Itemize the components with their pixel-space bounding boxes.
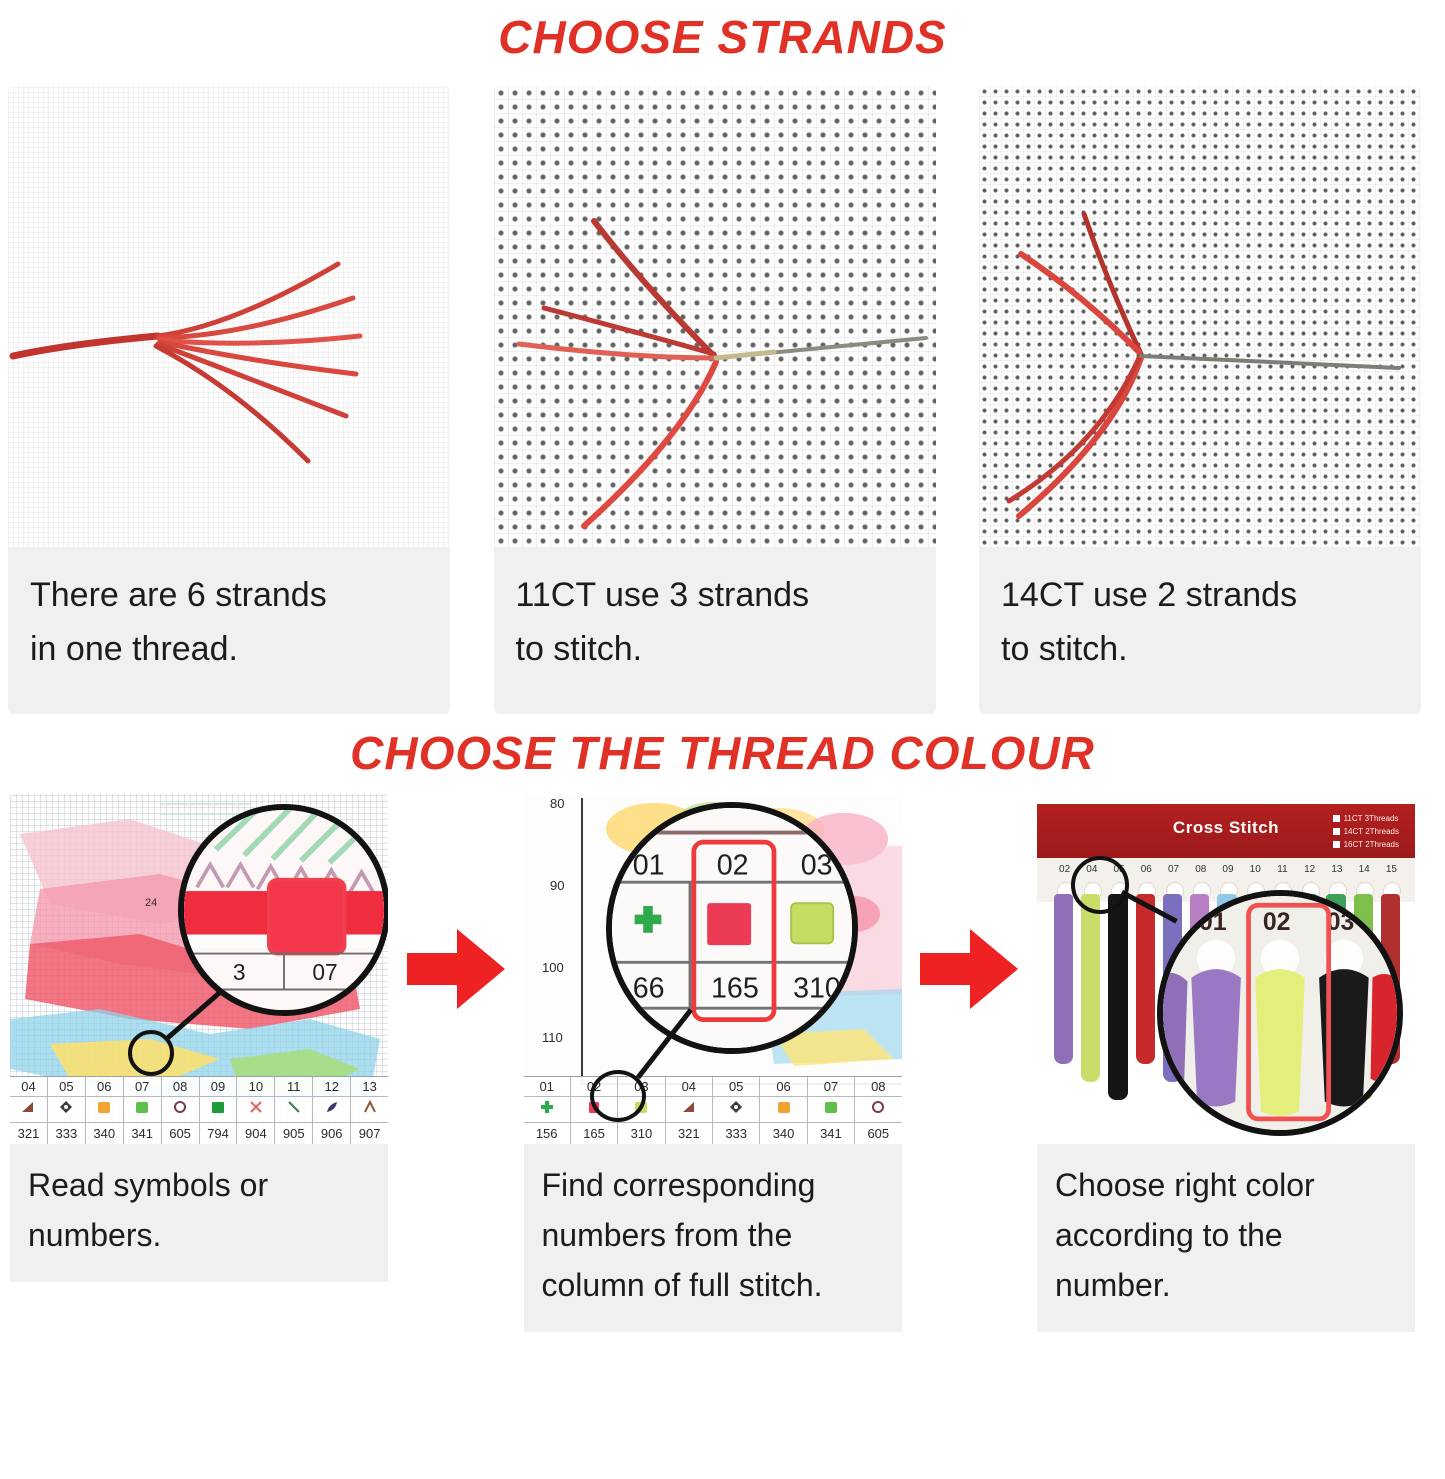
bobbin-num-02: 02	[1263, 909, 1291, 936]
magnifier-lens-symbols: 3 07	[178, 804, 388, 1016]
magnified-bobbins: 01 02 03	[1157, 890, 1403, 1136]
page-title-choose-strands: CHOOSE STRANDS	[0, 0, 1445, 68]
thread-skein-05	[1108, 894, 1127, 1100]
legend-dmc-321: 321	[666, 1123, 713, 1144]
legend-dmc-905: 905	[275, 1123, 313, 1144]
caption-line-2: in one thread.	[30, 622, 428, 676]
legend-column-08: 08	[855, 1077, 901, 1097]
legend-column-04: 04	[10, 1077, 48, 1097]
lens-number-left: 3	[233, 959, 246, 985]
axis-label-80: 80	[550, 796, 564, 811]
bobbin-thread-01	[1191, 969, 1241, 1106]
caption-line-1: Choose right color	[1055, 1160, 1397, 1210]
caption-line-2: numbers from the	[542, 1210, 884, 1260]
right-arrow-icon-2	[916, 923, 1022, 1015]
legend-column-header-row: 0102030405060708	[524, 1077, 902, 1097]
legend-dmc-341: 341	[124, 1123, 162, 1144]
legend-symbol-open-circle	[855, 1097, 901, 1123]
lens-num-310: 310	[793, 973, 841, 1005]
legend-dmc-605: 605	[855, 1123, 901, 1144]
legend-symbol-red-cross	[237, 1097, 275, 1123]
thread-card-banner: Cross Stitch 11CT 3Threads14CT 2Threads1…	[1037, 804, 1415, 858]
legend-column-12: 12	[313, 1077, 351, 1097]
lens-content-3: 01 02 03	[1157, 890, 1403, 1136]
legend-dmc-340: 340	[86, 1123, 124, 1144]
caption-line-2: according to the	[1055, 1210, 1397, 1260]
magnifier-target-circle-2	[590, 1070, 646, 1122]
caption-line-1: Read symbols or	[28, 1160, 370, 1210]
colour-steps-row: 24 02 04050607080910111213 3213333403416…	[0, 784, 1425, 1332]
lens-number-right: 07	[312, 959, 337, 985]
legend-symbol-dark-green-square	[200, 1097, 238, 1123]
thread-card-legend-item-1: 14CT 2Threads	[1333, 825, 1399, 838]
magnified-pattern: 3 07	[178, 804, 388, 1016]
legend-dmc-321: 321	[10, 1123, 48, 1144]
legend-column-10: 10	[237, 1077, 275, 1097]
lens-content-2: 01 02 03 66 165 310	[606, 802, 858, 1054]
symbol-legend-table: 04050607080910111213 3213333403416057949…	[10, 1076, 388, 1144]
right-arrow-icon	[403, 923, 509, 1015]
thread-card-column-08: 08	[1187, 864, 1214, 875]
bobbin-thread-02	[1255, 969, 1305, 1116]
two-strands-needle-illustration	[979, 86, 1421, 548]
legend-dmc-333: 333	[713, 1123, 760, 1144]
legend-column-05: 05	[713, 1077, 760, 1097]
three-strands-needle-illustration	[494, 86, 936, 548]
colour-step-choose-color: Cross Stitch 11CT 3Threads14CT 2Threads1…	[1037, 794, 1415, 1332]
legend-column-05: 05	[48, 1077, 86, 1097]
thread-card-legend-label: 16CT 2Threads	[1344, 838, 1399, 851]
thread-card-column-10: 10	[1242, 864, 1269, 875]
lens-col-01: 01	[632, 850, 664, 882]
legend-symbol-green-square	[808, 1097, 855, 1123]
legend-symbol-diagonal-line	[275, 1097, 313, 1123]
legend-dmc-333: 333	[48, 1123, 86, 1144]
caption-read-symbols: Read symbols or numbers.	[10, 1144, 388, 1282]
strand-card-14ct: 14CT use 2 strands to stitch.	[979, 86, 1421, 714]
symbol-legend-table-2: 0102030405060708 15616531032133334034160…	[524, 1076, 902, 1144]
legend-column-09: 09	[200, 1077, 238, 1097]
legend-column-06: 06	[760, 1077, 807, 1097]
thread-skein-06	[1136, 894, 1155, 1064]
arrow-cell-2	[911, 794, 1027, 1144]
caption-line-1: 11CT use 3 strands	[516, 568, 914, 622]
legend-dmc-906: 906	[313, 1123, 351, 1144]
lens-content: 3 07	[178, 804, 388, 1016]
legend-dmc-341: 341	[808, 1123, 855, 1144]
thread-card-legend: 11CT 3Threads14CT 2Threads16CT 2Threads	[1333, 812, 1399, 851]
legend-symbol-orange-square	[760, 1097, 807, 1123]
caption-11ct: 11CT use 3 strands to stitch.	[494, 548, 936, 714]
lens-col-02: 02	[716, 850, 748, 882]
legend-column-11: 11	[275, 1077, 313, 1097]
legend-dmc-605: 605	[162, 1123, 200, 1144]
caption-choose-color: Choose right color according to the numb…	[1037, 1144, 1415, 1332]
legend-symbol-triangle	[10, 1097, 48, 1123]
legend-dmc-904: 904	[237, 1123, 275, 1144]
legend-dmc-156: 156	[524, 1123, 571, 1144]
axis-label-100: 100	[542, 960, 564, 975]
checkbox-icon	[1333, 841, 1340, 848]
legend-symbol-triangle	[666, 1097, 713, 1123]
strands-card-row: There are 6 strands in one thread. 11CT …	[0, 68, 1429, 714]
magnified-legend-bg: 01 02 03 66 165 310	[606, 802, 858, 1054]
thread-card-column-15: 15	[1378, 864, 1405, 875]
colour-step-find-numbers: 80 90 100 110 0102030405060708 156165310	[524, 794, 902, 1332]
axis-label-110: 110	[542, 1030, 563, 1045]
legend-symbol-dot-diamond	[713, 1097, 760, 1123]
colour-step-read-symbols: 24 02 04050607080910111213 3213333403416…	[10, 794, 388, 1282]
thread-skein-04	[1081, 894, 1100, 1082]
caption-14ct: 14CT use 2 strands to stitch.	[979, 548, 1421, 714]
magnifier-target-circle-3	[1071, 856, 1129, 914]
caption-line-1: Find corresponding	[542, 1160, 884, 1210]
thread-card-legend-label: 14CT 2Threads	[1344, 825, 1399, 838]
lens-num-66: 66	[632, 973, 664, 1005]
legend-dmc-794: 794	[200, 1123, 238, 1144]
legend-symbol-leaf	[313, 1097, 351, 1123]
caption-line-1: 14CT use 2 strands	[1001, 568, 1399, 622]
lens-col-03: 03	[800, 850, 832, 882]
legend-column-13: 13	[351, 1077, 388, 1097]
caption-line-2: to stitch.	[1001, 622, 1399, 676]
thread-skein-02	[1054, 894, 1073, 1064]
thread-card-column-14: 14	[1351, 864, 1378, 875]
six-strands-illustration	[8, 86, 450, 548]
checkbox-icon	[1333, 815, 1340, 822]
thread-card-legend-item-0: 11CT 3Threads	[1333, 812, 1399, 825]
legend-symbol-dot-diamond	[48, 1097, 86, 1123]
lens-symbol-green-square	[791, 903, 833, 943]
legend-number-row: 156165310321333340341605	[524, 1123, 902, 1144]
magnifier-lens-threads: 01 02 03	[1157, 890, 1403, 1136]
thread-card-column-11: 11	[1269, 864, 1296, 875]
legend-column-06: 06	[86, 1077, 124, 1097]
photo-thread-card: Cross Stitch 11CT 3Threads14CT 2Threads1…	[1037, 794, 1415, 1144]
caption-line-3: number.	[1055, 1260, 1397, 1310]
caption-line-2: to stitch.	[516, 622, 914, 676]
legend-column-08: 08	[162, 1077, 200, 1097]
arrow-cell-1	[398, 794, 514, 1144]
caption-line-3: column of full stitch.	[542, 1260, 884, 1310]
caption-find-numbers: Find corresponding numbers from the colu…	[524, 1144, 902, 1332]
legend-symbol-green-cross	[524, 1097, 571, 1123]
bobbin-num-01: 01	[1199, 909, 1227, 936]
thread-card-column-07: 07	[1160, 864, 1187, 875]
photo-11ct	[494, 86, 936, 548]
legend-dmc-340: 340	[760, 1123, 807, 1144]
chart-number-24: 24	[145, 897, 157, 909]
checkbox-icon	[1333, 828, 1340, 835]
legend-symbol-orange-square	[86, 1097, 124, 1123]
legend-column-header-row: 04050607080910111213	[10, 1077, 388, 1097]
caption-line-2: numbers.	[28, 1210, 370, 1260]
photo-pattern-chart-numbers: 80 90 100 110 0102030405060708 156165310	[524, 794, 902, 1144]
thread-card-legend-item-2: 16CT 2Threads	[1333, 838, 1399, 851]
legend-column-07: 07	[808, 1077, 855, 1097]
lens-symbol-red-square	[707, 903, 751, 945]
thread-card-column-13: 13	[1323, 864, 1350, 875]
legend-dmc-165: 165	[571, 1123, 618, 1144]
caption-six-strands: There are 6 strands in one thread.	[8, 548, 450, 714]
photo-pattern-chart-symbols: 24 02 04050607080910111213 3213333403416…	[10, 794, 388, 1144]
magnifier-lens-numbers: 01 02 03 66 165 310	[606, 802, 858, 1054]
legend-column-01: 01	[524, 1077, 571, 1097]
photo-six-strands	[8, 86, 450, 548]
legend-dmc-310: 310	[618, 1123, 665, 1144]
legend-symbol-open-circle	[162, 1097, 200, 1123]
strand-card-11ct: 11CT use 3 strands to stitch.	[494, 86, 936, 714]
legend-symbol-row	[524, 1097, 902, 1123]
strand-card-six-strands: There are 6 strands in one thread.	[8, 86, 450, 714]
legend-number-row: 321333340341605794904905906907	[10, 1123, 388, 1144]
thread-card-column-09: 09	[1214, 864, 1241, 875]
legend-dmc-907: 907	[351, 1123, 388, 1144]
caption-line-1: There are 6 strands	[30, 568, 428, 622]
thread-card-column-06: 06	[1133, 864, 1160, 875]
legend-symbol-green-square	[124, 1097, 162, 1123]
photo-14ct	[979, 86, 1421, 548]
legend-symbol-caret	[351, 1097, 388, 1123]
thread-card-column-12: 12	[1296, 864, 1323, 875]
page-title-choose-thread-colour: CHOOSE THE THREAD COLOUR	[0, 714, 1445, 784]
thread-card-legend-label: 11CT 3Threads	[1344, 812, 1399, 825]
lens-num-165: 165	[711, 973, 759, 1005]
legend-column-04: 04	[666, 1077, 713, 1097]
axis-label-90: 90	[550, 878, 564, 893]
legend-symbol-row	[10, 1097, 388, 1123]
legend-column-07: 07	[124, 1077, 162, 1097]
